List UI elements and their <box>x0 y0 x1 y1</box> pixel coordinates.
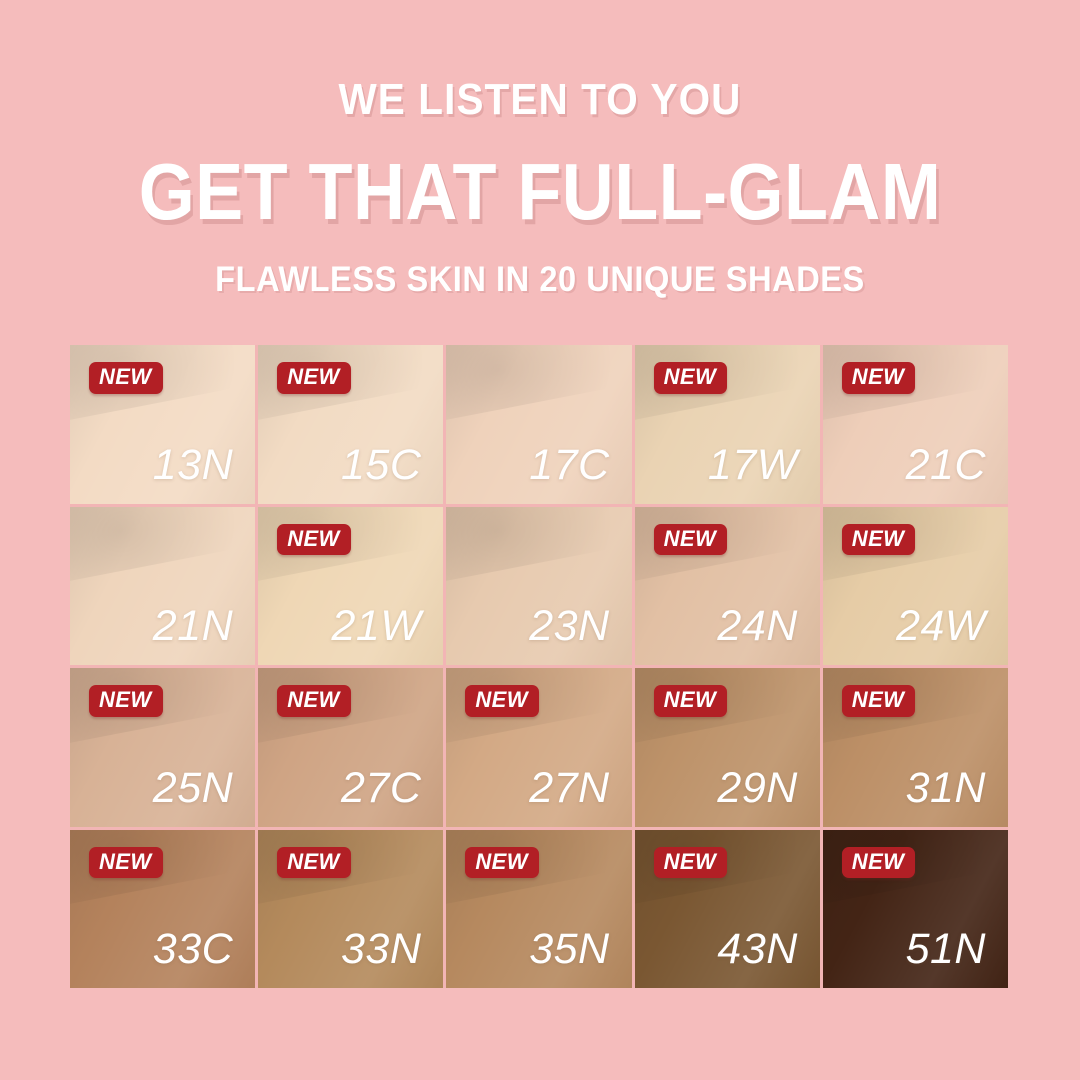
new-badge: NEW <box>654 524 728 556</box>
shade-swatch[interactable]: 21N <box>70 507 255 666</box>
eyebrow-text: WE LISTEN TO YOU <box>43 78 1037 122</box>
shade-swatch[interactable]: NEW25N <box>70 668 255 827</box>
new-badge: NEW <box>654 685 728 717</box>
shade-label: 23N <box>529 605 609 648</box>
shade-label: 24W <box>896 605 986 648</box>
shade-label: 51N <box>906 928 986 971</box>
shade-label: 31N <box>906 767 986 810</box>
shade-label: 17W <box>708 444 798 487</box>
shade-swatch[interactable]: NEW51N <box>823 830 1008 989</box>
shade-swatch[interactable]: NEW31N <box>823 668 1008 827</box>
new-badge: NEW <box>654 847 728 879</box>
shade-swatch[interactable]: NEW33C <box>70 830 255 989</box>
shade-swatch[interactable]: NEW15C <box>258 345 443 504</box>
shade-swatch[interactable]: NEW43N <box>635 830 820 989</box>
shade-swatch[interactable]: NEW27N <box>446 668 631 827</box>
new-badge: NEW <box>842 362 916 394</box>
shade-swatch[interactable]: NEW21W <box>258 507 443 666</box>
new-badge: NEW <box>277 362 351 394</box>
shade-label: 24N <box>717 605 797 648</box>
new-badge: NEW <box>89 685 163 717</box>
shade-label: 27C <box>341 767 421 810</box>
shade-label: 29N <box>717 767 797 810</box>
shade-label: 27N <box>529 767 609 810</box>
shade-swatch[interactable]: NEW17W <box>635 345 820 504</box>
shade-swatch-grid: NEW13NNEW15C17CNEW17WNEW21C21NNEW21W23NN… <box>70 345 1008 988</box>
shade-swatch[interactable]: NEW29N <box>635 668 820 827</box>
shade-swatch[interactable]: 23N <box>446 507 631 666</box>
shade-label: 21C <box>906 444 986 487</box>
new-badge: NEW <box>654 362 728 394</box>
new-badge: NEW <box>842 685 916 717</box>
new-badge: NEW <box>842 847 916 879</box>
new-badge: NEW <box>89 847 163 879</box>
shade-label: 21W <box>331 605 421 648</box>
subtitle-text: FLAWLESS SKIN IN 20 UNIQUE SHADES <box>38 262 1042 297</box>
new-badge: NEW <box>89 362 163 394</box>
new-badge: NEW <box>842 524 916 556</box>
shade-label: 33N <box>341 928 421 971</box>
shade-label: 21N <box>153 605 233 648</box>
shade-swatch[interactable]: NEW33N <box>258 830 443 989</box>
shade-label: 25N <box>153 767 233 810</box>
shade-swatch[interactable]: NEW24W <box>823 507 1008 666</box>
new-badge: NEW <box>277 847 351 879</box>
page-title: GET THAT FULL-GLAM <box>54 152 1026 232</box>
new-badge: NEW <box>277 524 351 556</box>
shade-label: 15C <box>341 444 421 487</box>
shade-swatch[interactable]: NEW27C <box>258 668 443 827</box>
promo-header: WE LISTEN TO YOU GET THAT FULL-GLAM FLAW… <box>0 0 1080 297</box>
new-badge: NEW <box>465 847 539 879</box>
shade-swatch[interactable]: NEW24N <box>635 507 820 666</box>
shade-swatch[interactable]: NEW35N <box>446 830 631 989</box>
shade-label: 13N <box>153 444 233 487</box>
shade-swatch[interactable]: NEW21C <box>823 345 1008 504</box>
shade-swatch[interactable]: 17C <box>446 345 631 504</box>
shade-swatch[interactable]: NEW13N <box>70 345 255 504</box>
new-badge: NEW <box>465 685 539 717</box>
shade-label: 17C <box>529 444 609 487</box>
shade-label: 33C <box>153 928 233 971</box>
shade-label: 43N <box>717 928 797 971</box>
shade-label: 35N <box>529 928 609 971</box>
new-badge: NEW <box>277 685 351 717</box>
